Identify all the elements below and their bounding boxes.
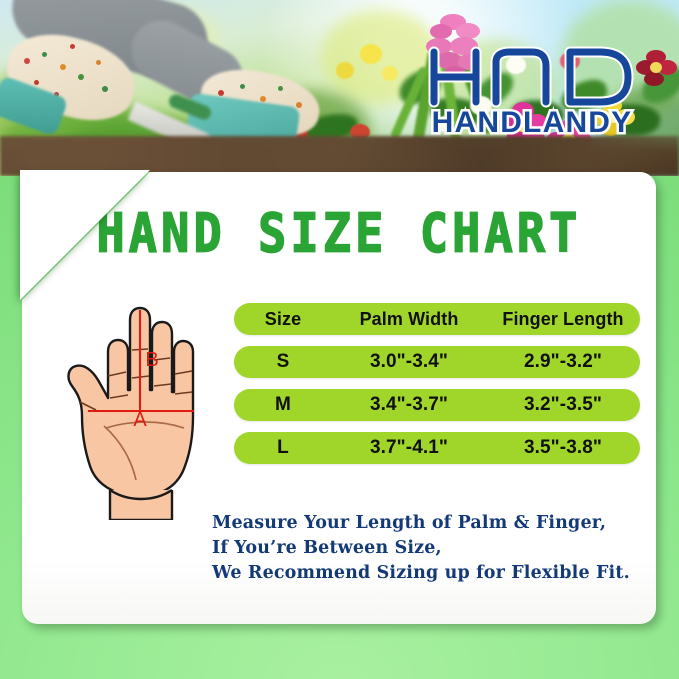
cell-value: M	[275, 394, 291, 415]
size-chart-page: HANDLANDY HAND SIZE CHART	[0, 0, 679, 679]
size-table: Size Palm Width Finger Length S 3.0"-3.4…	[234, 303, 640, 464]
cell-value: 3.2"-3.5"	[524, 394, 602, 415]
cell-value: 3.7"-4.1"	[370, 437, 448, 458]
cell-value: L	[277, 437, 289, 458]
table-header-row: Size Palm Width Finger Length	[234, 303, 640, 335]
cell-palm-width: 3.4"-3.7"	[332, 394, 486, 416]
brand-name-text: HANDLANDY	[432, 106, 633, 136]
cell-size: L	[234, 437, 332, 459]
header-cell-palm-width: Palm Width	[332, 309, 486, 330]
sizing-note: Measure Your Length of Palm & Finger, If…	[212, 511, 630, 586]
table-row: S 3.0"-3.4" 2.9"-3.2"	[234, 346, 640, 378]
flower	[382, 66, 398, 81]
folded-corner	[20, 170, 150, 300]
hand-diagram: A B	[44, 290, 234, 520]
note-line-1: Measure Your Length of Palm & Finger,	[212, 511, 630, 536]
header-label: Size	[265, 309, 301, 329]
cell-value: 3.4"-3.7"	[370, 394, 448, 415]
cell-value: S	[277, 351, 290, 372]
cell-finger-length: 3.2"-3.5"	[486, 394, 640, 416]
flower	[636, 50, 678, 90]
hand-label-a: A	[133, 409, 147, 431]
cell-value: 3.5"-3.8"	[524, 437, 602, 458]
cell-size: S	[234, 351, 332, 373]
cell-finger-length: 3.5"-3.8"	[486, 437, 640, 459]
cell-palm-width: 3.0"-3.4"	[332, 351, 486, 373]
header-cell-finger-length: Finger Length	[486, 309, 640, 330]
header-label: Finger Length	[502, 309, 623, 329]
note-line-3: We Recommend Sizing up for Flexible Fit.	[212, 561, 630, 586]
cell-value: 2.9"-3.2"	[524, 351, 602, 372]
table-row: M 3.4"-3.7" 3.2"-3.5"	[234, 389, 640, 421]
note-line-2: If You’re Between Size,	[212, 536, 630, 561]
cell-finger-length: 2.9"-3.2"	[486, 351, 640, 373]
brand-logo: HANDLANDY	[424, 44, 640, 136]
cell-palm-width: 3.7"-4.1"	[332, 437, 486, 459]
header-label: Palm Width	[360, 309, 459, 329]
cell-size: M	[234, 394, 332, 416]
header-cell-size: Size	[234, 309, 332, 330]
table-row: L 3.7"-4.1" 3.5"-3.8"	[234, 432, 640, 464]
hand-label-b: B	[145, 349, 158, 371]
flower	[336, 62, 354, 79]
flower	[360, 44, 382, 64]
cell-value: 3.0"-3.4"	[370, 351, 448, 372]
